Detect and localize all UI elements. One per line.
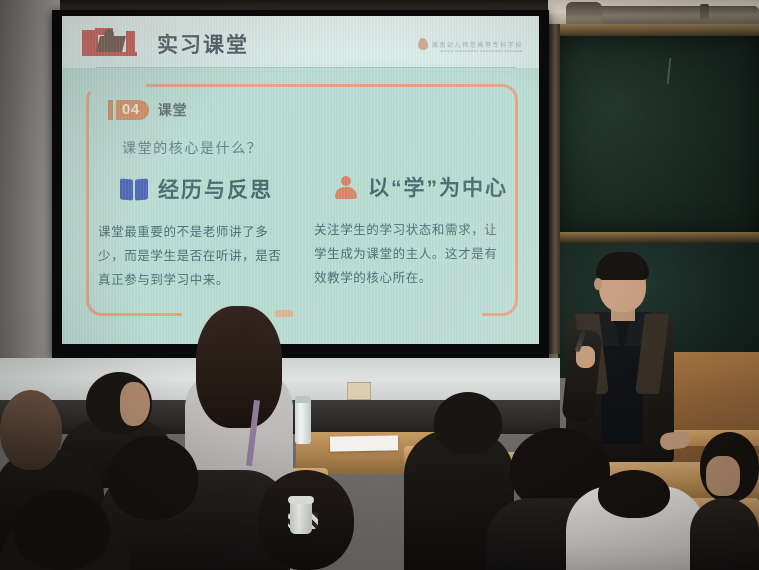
paper-cup-lid: [288, 496, 314, 504]
section-label: 课堂: [158, 100, 188, 120]
wall-plate: [347, 382, 371, 400]
audience-member-body: [690, 498, 759, 570]
standing-woman-hair: [196, 306, 282, 428]
slide-frame-gap-top: [82, 80, 146, 92]
section-number: 04: [116, 100, 149, 120]
org-logo-subtext: HUNAN PRESCHOOL EDUCATION COLLEGE: [440, 49, 523, 53]
water-bottle-cap: [295, 396, 311, 403]
blackboard-frame-top: [548, 24, 759, 36]
section-badge: 04 课堂: [108, 100, 188, 120]
blackboard-frame-left: [548, 24, 560, 354]
presenter-ear: [594, 278, 602, 290]
column-heading-left: 经历与反思: [120, 174, 273, 204]
slide-frame-nub: [275, 310, 293, 317]
audience-member-face: [120, 382, 150, 426]
audience-member-head: [14, 490, 110, 570]
slide-title: 实习课堂: [157, 29, 249, 59]
paper-sheet: [330, 435, 398, 451]
org-logo-text: 湖南幼儿师范高等专科学校: [432, 40, 523, 49]
paper-cup: [290, 500, 312, 534]
classroom-photo-scene: 实习课堂 湖南幼儿师范高等专科学校 HUNAN PRESCHOOL EDUCAT…: [0, 0, 759, 570]
section-badge-bar: [108, 100, 113, 120]
audience-member-head: [0, 390, 62, 470]
org-logo-flame-icon: [417, 37, 429, 50]
audience-member-head: [434, 392, 502, 454]
column-right-body: 关注学生的学习状态和需求，让学生成为课堂的主人。这才是有效教学的核心所在。: [314, 218, 510, 290]
audience-member-head: [108, 436, 198, 520]
blackboard-panel-upper: [558, 36, 759, 234]
column-heading-right: 以“学”为中心: [334, 172, 508, 202]
open-book-icon: [120, 179, 148, 200]
column-right-heading-text: 以“学”为中心: [368, 172, 508, 202]
audience-member-face: [706, 456, 740, 496]
presenter-hair: [596, 252, 649, 280]
slide-header-rule: [96, 67, 516, 68]
column-left-heading-text: 经历与反思: [158, 174, 273, 204]
blackboard-chalk-ledge: [552, 232, 759, 243]
person-icon: [334, 176, 358, 199]
column-left-body: 课堂最重要的不是老师讲了多少，而是学生是否在听讲，是否真正参与到学习中来。: [98, 220, 294, 292]
presentation-slide: 实习课堂 湖南幼儿师范高等专科学校 HUNAN PRESCHOOL EDUCAT…: [62, 16, 539, 344]
projection-screen-surface: 实习课堂 湖南幼儿师范高等专科学校 HUNAN PRESCHOOL EDUCAT…: [62, 16, 539, 344]
slide-question: 课堂的核心是什么？: [122, 138, 262, 158]
water-bottle: [295, 400, 311, 444]
audience-member-head: [598, 470, 670, 518]
lectern-teaching-icon: [82, 28, 148, 58]
blackboard: [548, 24, 759, 354]
